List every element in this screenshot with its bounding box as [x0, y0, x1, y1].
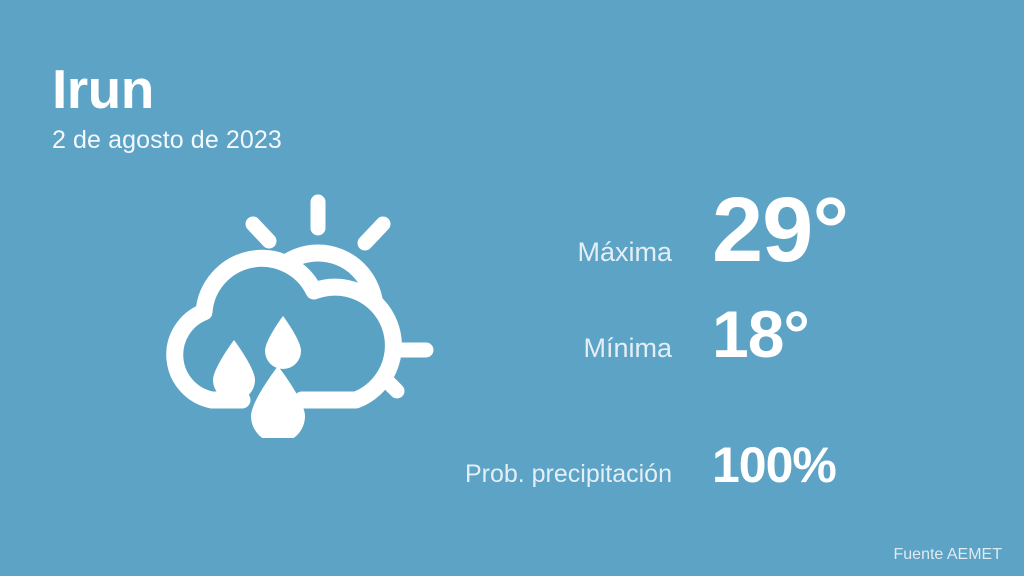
reading-label-maxima: Máxima: [410, 237, 672, 268]
weather-icon: [150, 188, 440, 438]
reading-row-maxima: Máxima 29°: [410, 178, 970, 296]
reading-value-minima: 18°: [672, 296, 809, 372]
reading-row-precipitacion: Prob. precipitación 100%: [410, 436, 970, 496]
sun-ray-upper-left: [253, 224, 269, 241]
readings-list: Máxima 29° Mínima 18° Prob. precipitació…: [410, 178, 970, 496]
sun-ray-upper-right: [365, 224, 383, 243]
reading-label-precipitacion: Prob. precipitación: [410, 460, 672, 489]
city-name: Irun: [52, 62, 282, 117]
sun-behind-rain-cloud-icon: [150, 188, 440, 438]
forecast-date: 2 de agosto de 2023: [52, 128, 282, 153]
location-header: Irun 2 de agosto de 2023: [52, 62, 282, 153]
reading-value-maxima: 29°: [672, 178, 848, 283]
weather-card: Irun 2 de agosto de 2023: [0, 0, 1024, 576]
reading-row-minima: Mínima 18°: [410, 296, 970, 436]
reading-value-precipitacion: 100%: [672, 436, 836, 494]
source-attribution: Fuente AEMET: [894, 546, 1003, 564]
reading-label-minima: Mínima: [410, 333, 672, 364]
